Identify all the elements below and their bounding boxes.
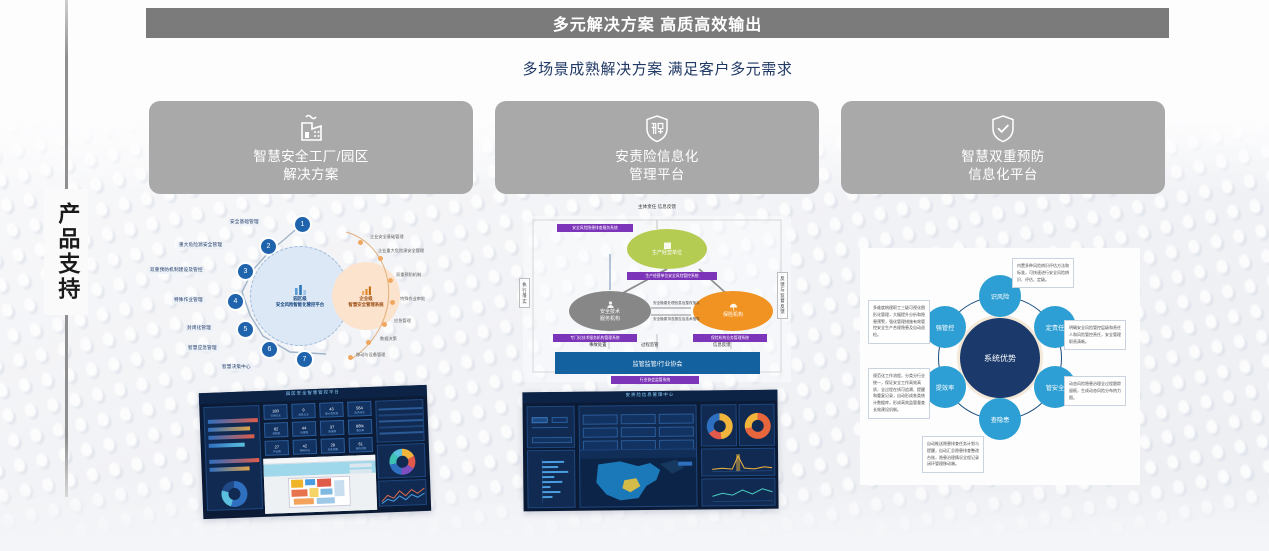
- figure2-node-label: 安全技术 服务机构: [600, 309, 620, 322]
- figure2-caption-3: 信息反馈: [713, 342, 731, 348]
- shot1-kpi-4: 564监测点位: [347, 401, 372, 417]
- figure2-flow-label-1: 安全隐患处理信息及整改落实: [653, 301, 700, 306]
- shot2-line-chart-1: [702, 449, 776, 478]
- figure1-right-dot-1: [358, 240, 363, 245]
- shot1-kpi-11: 28应急预案: [321, 438, 346, 454]
- figure2-regulator-bar[interactable]: 监管监管/行业协会: [555, 352, 760, 374]
- figure2-tag-5: 行业协会监管系统: [611, 376, 699, 384]
- page-title: 多元解决方案 高质高效输出: [553, 11, 762, 35]
- shot2-filter-panel: [527, 406, 575, 449]
- shot2-horizontal-bars: [528, 451, 577, 509]
- shot1-donut-panel: [377, 443, 426, 479]
- shot1-kpi-12: 61演练次数: [349, 437, 374, 453]
- shot1-map-inset[interactable]: [263, 455, 377, 514]
- figure3-knob-5[interactable]: 提效率: [924, 366, 966, 408]
- figure1-right-label-5: 应急管理: [394, 318, 411, 324]
- section-rail-label: 产品支持: [44, 189, 88, 315]
- figure-system-advantage-wheel: 系统优势 识风险 定责任 管安全 查隐患 提效率 强管控 内置多种风险辨识评估方…: [860, 248, 1140, 485]
- shot2-map-shape: [580, 450, 699, 509]
- shot1-kpi-9: 27作业票: [265, 440, 290, 456]
- building-icon: [663, 241, 672, 250]
- page-title-bar: 多元解决方案 高质高效输出: [146, 8, 1169, 38]
- figure2-tag-1: 安全风险隐患排查服务系统: [557, 224, 633, 232]
- figure2-top-note: 主体责任 信息反馈: [627, 204, 687, 210]
- shot2-bar-panel: [527, 450, 576, 508]
- shot1-kpi-1: 180在册企业: [263, 404, 288, 420]
- figure1-right-dot-2: [378, 256, 383, 261]
- shot2-line-panel-1: [701, 448, 775, 477]
- shot1-left-panel: [203, 405, 263, 511]
- figure-insurance-relationship-diagram: 主体责任 信息反馈 生产经营单位 安全技术 服务机构 保险机构 监管监管/行业协…: [523, 216, 791, 382]
- shot2-line-panel-2: [701, 478, 775, 507]
- figure1-right-dot-6: [366, 340, 371, 345]
- slide-root: 产品支持 多元解决方案 高质高效输出 多场景成熟解决方案 满足客户多元需求 智慧…: [0, 0, 1269, 551]
- figure2-tag-3: 专门化技术服务机构管理系统: [553, 334, 637, 342]
- figure2-node-insurer[interactable]: 保险机构: [693, 291, 773, 331]
- shot2-donut-panel-1: [701, 404, 737, 446]
- figure1-right-dot-5: [382, 322, 387, 327]
- figure2-flow-label-2: 安全隐患排查报告及技术指导: [653, 317, 700, 322]
- figure3-note-4: 自动推送隐患排查任务计划与提醒，自动汇总隐患排查整改台账，隐患治理情况全程记录闭…: [922, 436, 984, 473]
- solution-card-insurance-platform[interactable]: 安责险信息化 管理平台: [495, 101, 819, 194]
- shot2-map-panel[interactable]: [579, 449, 698, 508]
- product-screenshot-park-dashboard[interactable]: 园区安全智慧管控平台 180在册企业 9高危企业 43重大危险源 564监测点位…: [199, 385, 431, 519]
- shot2-line-chart-2: [702, 479, 776, 508]
- shot1-spark-panel: [378, 479, 427, 507]
- figure3-note-5: 规范化工作流程，分类分行业统一，保证安全工作高效高质，全过程在线可追溯、提醒和重…: [868, 368, 930, 419]
- shot1-kpi-7: 37隐患数: [320, 420, 345, 436]
- figure2-node-label: 生产经营单位: [652, 250, 682, 257]
- product-screenshot-insurance-dashboard[interactable]: 安责险信息管理中心: [522, 390, 778, 512]
- solution-card-label: 安责险信息化 管理平台: [615, 148, 698, 184]
- figure2-side-right: 反馈与监督反馈: [777, 272, 788, 319]
- figure2-regulator-label: 监管监管/行业协会: [633, 359, 683, 368]
- figure1-right-dot-4: [390, 300, 395, 305]
- shot1-kpi-8: 86%整改率: [348, 419, 373, 435]
- umbrella-icon: [729, 303, 738, 312]
- figure3-knob-4[interactable]: 查隐患: [979, 398, 1021, 440]
- figure2-node-service-agency[interactable]: 安全技术 服务机构: [569, 291, 651, 331]
- figure2-node-label: 保险机构: [723, 312, 743, 319]
- figure2-caption-1: 事故处置: [589, 342, 607, 348]
- figure2-tag-4: 保险机构业务管理系统: [693, 334, 767, 342]
- figure2-node-production-unit[interactable]: 生产经营单位: [627, 229, 707, 269]
- insurance-shield-icon: [642, 111, 672, 145]
- people-icon: [606, 300, 615, 309]
- figure1-right-label-2: 企业重大危险源安全管理: [378, 248, 424, 254]
- solution-card-smart-factory[interactable]: 智慧安全工厂/园区 解决方案: [149, 101, 473, 194]
- shot1-sparkline: [379, 480, 428, 508]
- shot1-kpi-6: 44处置数: [292, 421, 317, 437]
- solution-card-label: 智慧安全工厂/园区 解决方案: [253, 148, 368, 184]
- figure2-tag-2: 生产经营单位安全风险管控系统: [627, 272, 717, 280]
- page-subtitle: 多场景成熟解决方案 满足客户多元需求: [146, 56, 1169, 80]
- solution-card-label: 智慧双重预防 信息化平台: [961, 148, 1044, 184]
- figure1-right-dot-7: [348, 355, 353, 360]
- solution-card-dual-prevention[interactable]: 智慧双重预防 信息化平台: [841, 101, 1165, 194]
- solution-card-list: 智慧安全工厂/园区 解决方案 安责险信息化 管理平台: [149, 101, 1165, 194]
- figure1-right-label-3: 双重预防机制: [396, 272, 421, 278]
- shot1-kpi-2: 9高危企业: [291, 403, 316, 419]
- figure2-side-left: 执行落实: [519, 278, 530, 308]
- figure1-right-label-4: 特殊作业审批: [400, 296, 425, 302]
- figure3-hub[interactable]: 系统优势: [960, 318, 1040, 398]
- figure1-right-label-1: 企业安全基础管理: [370, 234, 404, 240]
- shot1-table-panel: [375, 399, 425, 443]
- shot1-kpi-5: 62报警数: [264, 422, 289, 438]
- figure1-right-label-7: 移动与设备管理: [356, 352, 385, 358]
- check-shield-icon: [988, 111, 1018, 145]
- figure3-note-6: 多维度梳理职工三级可视化图形化管理，大幅提升分析和隐患预警，强化管理措施有效管控…: [868, 300, 930, 344]
- figure1-right-dot-3: [388, 278, 393, 283]
- figure1-right-label-6: 数据决策: [380, 336, 397, 342]
- figure3-note-3: 动态风险隐患治理全过程跟踪留痕，生成动态风险分布热力图。: [1064, 376, 1126, 406]
- figure3-knob-6[interactable]: 强管控: [924, 306, 966, 348]
- figure3-note-2: 明确安全风险管控层级和责任人和风险管控责任，安全管理职责清晰。: [1064, 320, 1126, 350]
- figure2-caption-2: 过程监管: [641, 342, 659, 348]
- figure-smart-factory-diagram: 1 2 3 4 5 6 7 安全基础管理 重大危险源安全管理 双重预防机制建设及…: [150, 212, 455, 387]
- shot2-donut-panel-2: [739, 404, 775, 446]
- shot1-kpi-3: 43重大危险源: [319, 402, 344, 418]
- figure3-note-1: 内置多种风险辨识评估方法和标准，可快速进行安全风险辨识、评估、定级。: [1012, 258, 1074, 288]
- factory-icon: [296, 111, 326, 145]
- shot1-kpi-10: 42特殊作业: [293, 439, 318, 455]
